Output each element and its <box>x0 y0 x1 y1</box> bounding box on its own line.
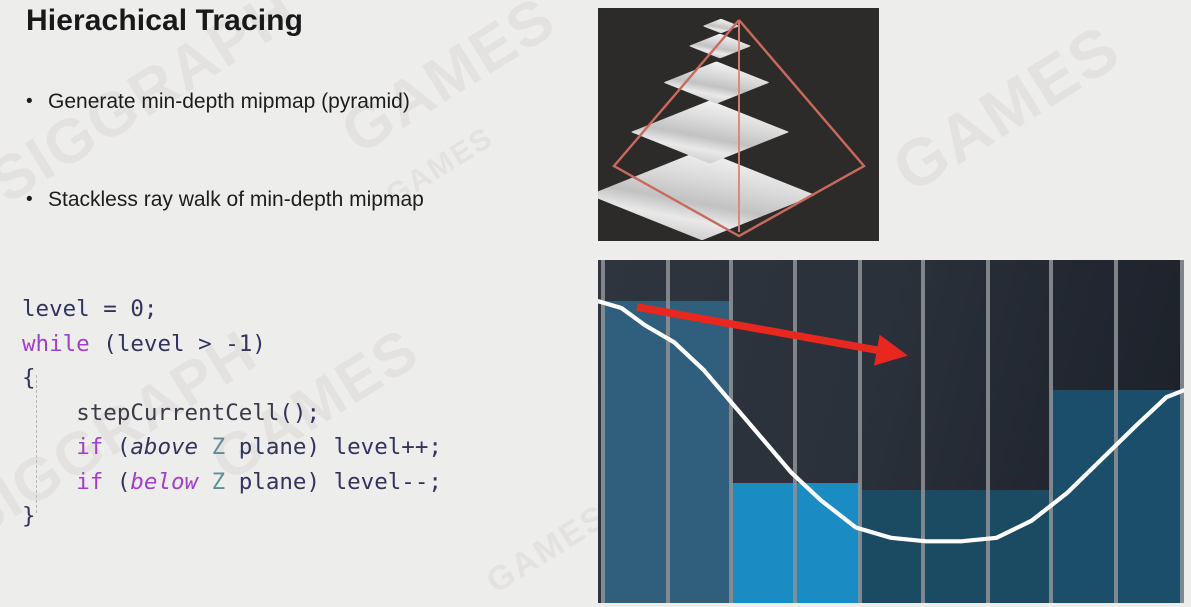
code-token: } <box>22 503 36 529</box>
code-indent-guide <box>36 375 37 513</box>
bullet-item-0: • Generate min-depth mipmap (pyramid) <box>26 89 410 115</box>
code-line-3: stepCurrentCell(); <box>22 396 442 431</box>
slide-canvas: SIGGRAPH GAMES GAMES GAMES SIGGRAPH GAME… <box>0 0 1191 607</box>
watermark-games-small-2: GAMES <box>480 497 615 601</box>
code-block: level = 0;while (level > -1){ stepCurren… <box>22 292 442 534</box>
watermark-games-2: GAMES <box>879 9 1133 207</box>
code-line-1: while (level > -1) <box>22 327 442 362</box>
code-token: plane) level++; <box>225 434 442 460</box>
code-token: ( <box>103 434 130 460</box>
ray-direction-arrow <box>598 260 1184 603</box>
code-token: if <box>76 434 103 460</box>
code-token: (); <box>279 400 320 426</box>
code-token: if <box>76 469 103 495</box>
code-token: level <box>117 331 185 357</box>
code-line-5: if (below Z plane) level--; <box>22 465 442 500</box>
code-token: stepCurrentCell <box>76 400 279 426</box>
code-token: level <box>22 296 90 322</box>
code-token: ( <box>90 331 117 357</box>
code-token: ) <box>252 331 266 357</box>
code-token <box>198 469 212 495</box>
code-token: > <box>185 331 226 357</box>
pyramid-outline-icon <box>598 8 879 241</box>
code-token: below <box>130 469 198 495</box>
code-token <box>198 434 212 460</box>
code-token: above <box>130 434 198 460</box>
bullet-marker-icon: • <box>26 89 48 115</box>
heightfield-chart <box>598 260 1184 603</box>
code-line-6: } <box>22 499 442 534</box>
code-line-4: if (above Z plane) level++; <box>22 430 442 465</box>
code-token: plane) level--; <box>225 469 442 495</box>
code-token: -1 <box>225 331 252 357</box>
code-token: { <box>22 365 36 391</box>
code-token: = <box>90 296 131 322</box>
bullet-marker-icon: • <box>26 187 48 213</box>
watermark-games-1: GAMES <box>329 0 568 168</box>
code-token: 0 <box>130 296 144 322</box>
bullet-text-1: Stackless ray walk of min-depth mipmap <box>48 187 424 213</box>
mipmap-pyramid-image <box>598 8 879 241</box>
page-title: Hierachical Tracing <box>26 4 303 38</box>
code-line-0: level = 0; <box>22 292 442 327</box>
code-token: while <box>22 331 90 357</box>
code-line-2: { <box>22 361 442 396</box>
bullet-text-0: Generate min-depth mipmap (pyramid) <box>48 89 410 115</box>
bullet-item-1: • Stackless ray walk of min-depth mipmap <box>26 187 424 213</box>
code-token: ( <box>103 469 130 495</box>
code-token: Z <box>212 469 226 495</box>
code-token: ; <box>144 296 158 322</box>
code-token: Z <box>212 434 226 460</box>
